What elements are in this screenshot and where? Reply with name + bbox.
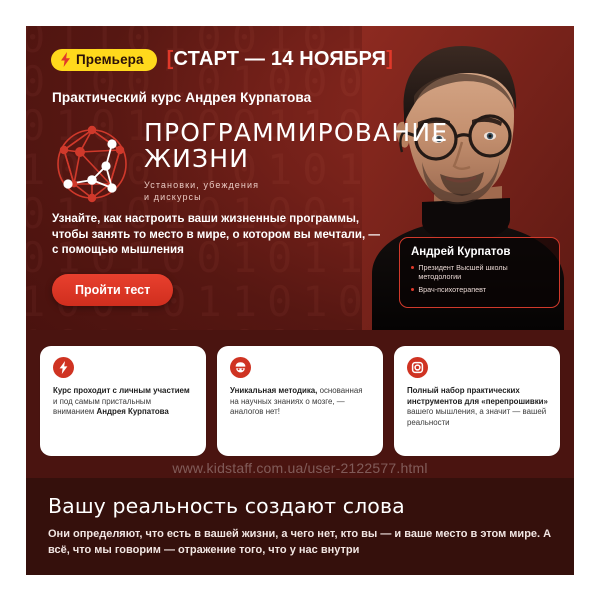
course-title-line-2: ЖИЗНИ bbox=[144, 145, 448, 172]
feature-card-2-lead: Уникальная методика, bbox=[230, 386, 317, 395]
feature-card-1-lead: Курс проходит с личным участием bbox=[53, 386, 190, 395]
promo-page: 0110100101000110101001011010010100110101… bbox=[26, 26, 574, 575]
bracket-close: ] bbox=[386, 48, 393, 70]
feature-card-3: Полный набор практических инструментов д… bbox=[394, 346, 560, 456]
network-graph-logo-icon bbox=[50, 122, 134, 206]
feature-cards-row: Курс проходит с личным участием и под са… bbox=[26, 330, 574, 478]
course-subtitle-line-2: и дискурсы bbox=[144, 191, 448, 203]
header-badge-row: Премьера [СТАРТ — 14 НОЯБРЯ] bbox=[51, 48, 393, 71]
take-test-button[interactable]: Пройти тест bbox=[52, 274, 173, 306]
speaker-credential-2: Врач-психотерапевт bbox=[411, 285, 549, 294]
course-title-line-1: ПРОГРАММИРОВАНИЕ bbox=[144, 120, 448, 145]
start-date-text: [СТАРТ — 14 НОЯБРЯ] bbox=[167, 48, 393, 71]
footer-title: Вашу реальность создают слова bbox=[48, 494, 552, 518]
course-title-block: ПРОГРАММИРОВАНИЕ ЖИЗНИ Установки, убежде… bbox=[50, 118, 448, 206]
speaker-credential-1: Президент Высшей школы методологии bbox=[411, 263, 549, 281]
feature-card-2-text: Уникальная методика, основанная на научн… bbox=[230, 386, 371, 418]
toolkit-icon bbox=[407, 357, 428, 378]
bullet-dot-icon bbox=[411, 288, 414, 291]
footer-section: Вашу реальность создают слова Они опреде… bbox=[26, 478, 574, 575]
course-subtitle-line-1: Установки, убеждения bbox=[144, 179, 448, 191]
feature-card-1: Курс проходит с личным участием и под са… bbox=[40, 346, 206, 456]
bracket-open: [ bbox=[167, 48, 174, 70]
speaker-credential-2-label: Врач-психотерапевт bbox=[418, 285, 486, 294]
brain-icon bbox=[230, 357, 251, 378]
feature-card-1-tail: Андрея Курпатова bbox=[97, 407, 169, 416]
feature-card-1-text: Курс проходит с личным участием и под са… bbox=[53, 386, 194, 418]
course-subhead: Практический курс Андрея Курпатова bbox=[52, 90, 311, 105]
footer-body: Они определяют, что есть в вашей жизни, … bbox=[48, 527, 552, 558]
speaker-name: Андрей Курпатов bbox=[411, 246, 549, 258]
feature-card-3-text: Полный набор практических инструментов д… bbox=[407, 386, 548, 428]
bullet-dot-icon bbox=[411, 266, 414, 269]
speaker-name-card: Андрей Курпатов Президент Высшей школы м… bbox=[399, 237, 560, 308]
start-date-label: СТАРТ — 14 НОЯБРЯ bbox=[174, 48, 387, 70]
feature-card-3-lead: Полный набор практических инструментов д… bbox=[407, 386, 548, 406]
feature-card-2: Уникальная методика, основанная на научн… bbox=[217, 346, 383, 456]
lightning-bolt-icon bbox=[53, 357, 74, 378]
hero-section: 0110100101000110101001011010010100110101… bbox=[26, 26, 574, 330]
hero-lede-text: Узнайте, как настроить ваши жизненные пр… bbox=[52, 211, 382, 258]
feature-card-3-rest: вашего мышления, а значит — вашей реальн… bbox=[407, 407, 546, 427]
speaker-credential-1-label: Президент Высшей школы методологии bbox=[418, 263, 549, 281]
lightning-bolt-icon bbox=[60, 52, 71, 67]
premiere-badge-label: Премьера bbox=[76, 52, 144, 67]
premiere-badge: Премьера bbox=[51, 49, 157, 71]
